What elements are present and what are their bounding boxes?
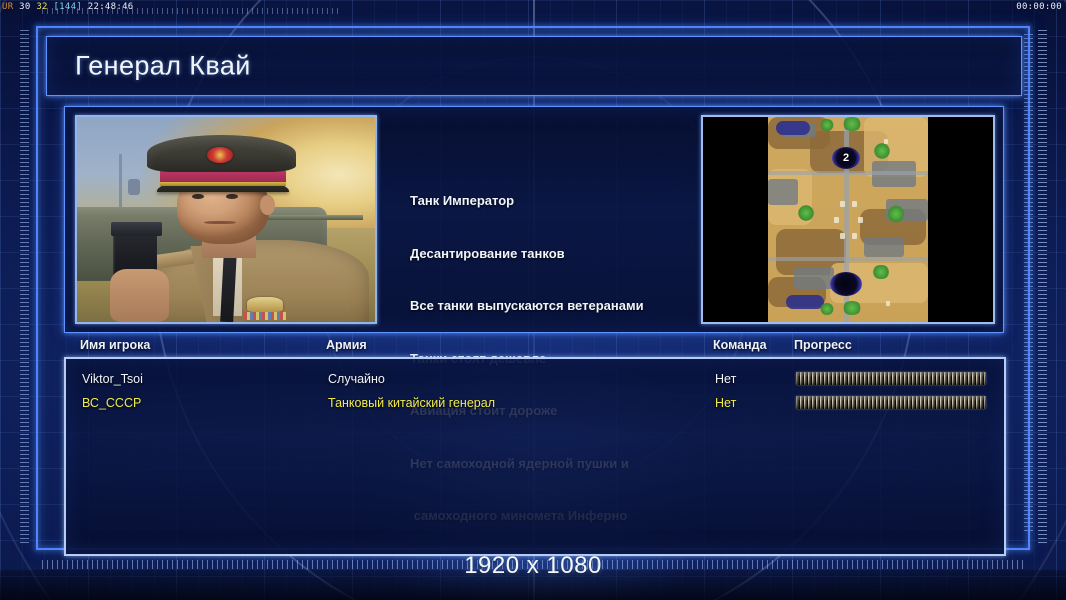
bonus-line: Десантирование танков (410, 245, 740, 263)
ruler-left (20, 30, 29, 546)
minimap-spawn-marker-empty[interactable] (830, 272, 862, 296)
minimap-preview: 2 (701, 115, 995, 324)
minimap-spawn-marker-2[interactable]: 2 (832, 147, 860, 169)
fps-label: UR (2, 2, 13, 12)
hud-frame-top (36, 26, 1030, 28)
hud-frame-left (36, 26, 38, 550)
hud-frame-right (1028, 26, 1030, 550)
table-row[interactable]: ВС_СССР Танковый китайский генерал Нет (66, 391, 1004, 415)
session-clock: 22:48:46 (88, 2, 134, 12)
header-player-name: Имя игрока (80, 338, 150, 352)
portrait-medal-icon (247, 297, 283, 311)
title-panel: Генерал Квай (46, 36, 1022, 96)
loading-screen: UR 30 32 [144] 22:48:46 00:00:00 Генерал… (0, 0, 1066, 600)
portrait-hand (110, 269, 170, 322)
player-army: Танковый китайский генерал (328, 391, 495, 415)
table-row[interactable]: Viktor_Tsoi Случайно Нет (66, 367, 1004, 391)
portrait-ribbon-bar (244, 312, 286, 320)
fps-bracket: [144] (53, 2, 82, 12)
portrait-pistol-slide (111, 222, 162, 236)
player-list-panel: Viktor_Tsoi Случайно Нет ВС_СССР Танковы… (64, 357, 1006, 556)
bonus-line: Танк Император (410, 192, 740, 210)
general-info-panel: Танк Император Десантирование танков Все… (64, 106, 1004, 333)
player-progress-bar (796, 372, 986, 385)
page-title: Генерал Квай (75, 51, 251, 82)
bonus-line: Все танки выпускаются ветеранами (410, 297, 740, 315)
player-team: Нет (715, 391, 736, 415)
ruler-right (1038, 30, 1047, 546)
player-name: ВС_СССР (82, 391, 141, 415)
header-army: Армия (326, 338, 367, 352)
fps-value-secondary: 32 (36, 2, 47, 12)
minimap-terrain: 2 (768, 117, 928, 322)
player-name: Viktor_Tsoi (82, 367, 143, 391)
header-team: Команда (713, 338, 767, 352)
header-progress: Прогресс (794, 338, 852, 352)
spawn-marker-label: 2 (843, 153, 849, 164)
portrait-antenna-base (128, 179, 140, 195)
fps-value: 30 (19, 2, 30, 12)
resolution-label: 1920 x 1080 (0, 552, 1066, 580)
player-progress-bar (796, 396, 986, 409)
elapsed-clock: 00:00:00 (1016, 0, 1062, 14)
fps-counter: UR 30 32 [144] 22:48:46 (2, 0, 134, 14)
ruler-inner-right (1024, 34, 1033, 534)
player-team: Нет (715, 367, 736, 391)
player-table-headers: Имя игрока Армия Команда Прогресс (64, 338, 1002, 358)
portrait-eye-left (192, 194, 204, 199)
player-army: Случайно (328, 367, 385, 391)
general-portrait (75, 115, 377, 324)
debug-topbar: UR 30 32 [144] 22:48:46 00:00:00 (0, 0, 1066, 14)
